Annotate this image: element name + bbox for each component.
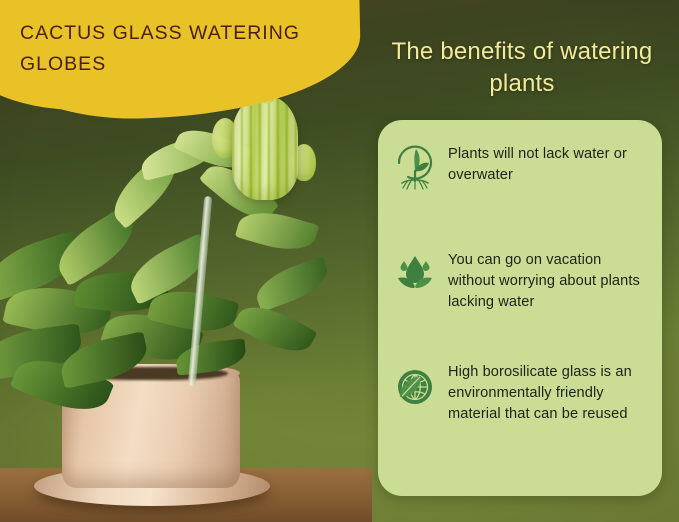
benefit-text: You can go on vacation without worrying … <box>448 248 650 313</box>
page-title: CACTUS GLASS WATERING GLOBES <box>20 18 340 80</box>
infographic-canvas: CACTUS GLASS WATERING GLOBES The benefit… <box>0 0 679 522</box>
benefit-item: You can go on vacation without worrying … <box>394 248 650 313</box>
benefits-card: Plants will not lack water or overwater … <box>378 120 662 496</box>
globe-with-leaf-icon <box>394 364 436 410</box>
cactus-body <box>232 96 298 200</box>
water-droplets-with-leaves-icon <box>394 250 436 296</box>
benefit-item: Plants will not lack water or overwater <box>394 142 650 190</box>
benefit-item: High borosilicate glass is an environmen… <box>394 362 650 425</box>
benefits-heading: The benefits of watering plants <box>372 36 672 100</box>
benefit-text: Plants will not lack water or overwater <box>448 142 650 186</box>
sprout-with-roots-icon <box>394 144 436 190</box>
benefit-text: High borosilicate glass is an environmen… <box>448 362 650 425</box>
cactus-ribs <box>232 96 298 200</box>
